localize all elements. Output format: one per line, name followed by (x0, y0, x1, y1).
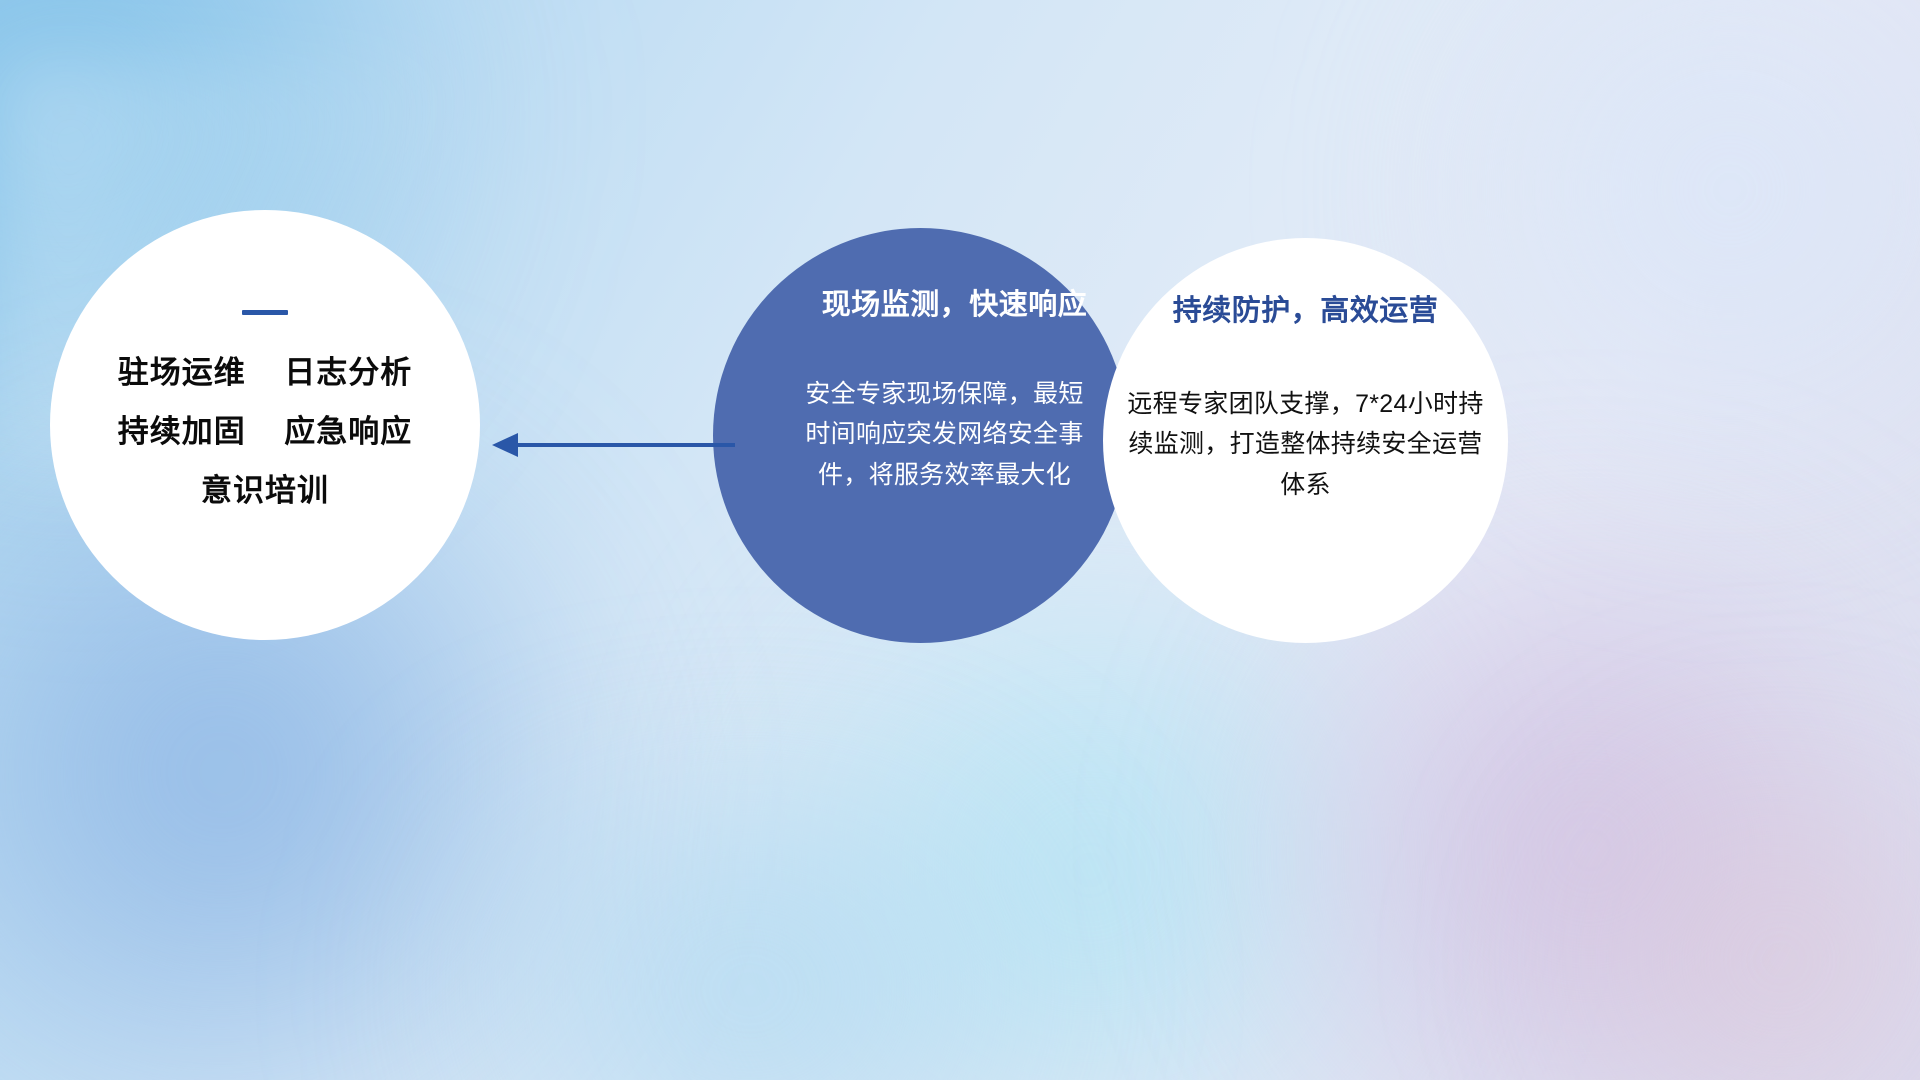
left-service-circle[interactable]: 驻场运维 日志分析 持续加固 应急响应 意识培训 (50, 210, 480, 640)
right-circle-body: 远程专家团队支撑，7*24小时持续监测，打造整体持续安全运营体系 (1126, 384, 1486, 506)
left-tag-line-1: 驻场运维 日志分析 (118, 357, 412, 388)
middle-circle-content: 现场监测，快速响应 安全专家现场保障，最短时间响应突发网络安全事件，将服务效率最… (713, 228, 1128, 643)
right-operations-circle[interactable]: 持续防护，高效运营 远程专家团队支撑，7*24小时持续监测，打造整体持续安全运营… (1103, 238, 1508, 643)
arrow-left-icon (480, 400, 740, 490)
right-circle-content: 持续防护，高效运营 远程专家团队支撑，7*24小时持续监测，打造整体持续安全运营… (1103, 238, 1508, 643)
middle-circle-body: 安全专家现场保障，最短时间响应突发网络安全事件，将服务效率最大化 (795, 374, 1095, 496)
middle-onsite-circle[interactable]: 现场监测，快速响应 安全专家现场保障，最短时间响应突发网络安全事件，将服务效率最… (713, 228, 1128, 643)
slide-canvas: 驻场运维 日志分析 持续加固 应急响应 意识培训 现场监测，快速响应 安全专家现… (0, 0, 1920, 1080)
divider-dash (242, 310, 288, 315)
middle-circle-title: 现场监测，快速响应 (822, 290, 1088, 322)
left-tag-line-2: 持续加固 应急响应 (118, 416, 412, 447)
left-circle-content: 驻场运维 日志分析 持续加固 应急响应 意识培训 (50, 210, 480, 640)
right-circle-title: 持续防护，高效运营 (1173, 296, 1439, 328)
connector-arrow (480, 400, 740, 490)
left-tag-line-3: 意识培训 (201, 475, 329, 506)
